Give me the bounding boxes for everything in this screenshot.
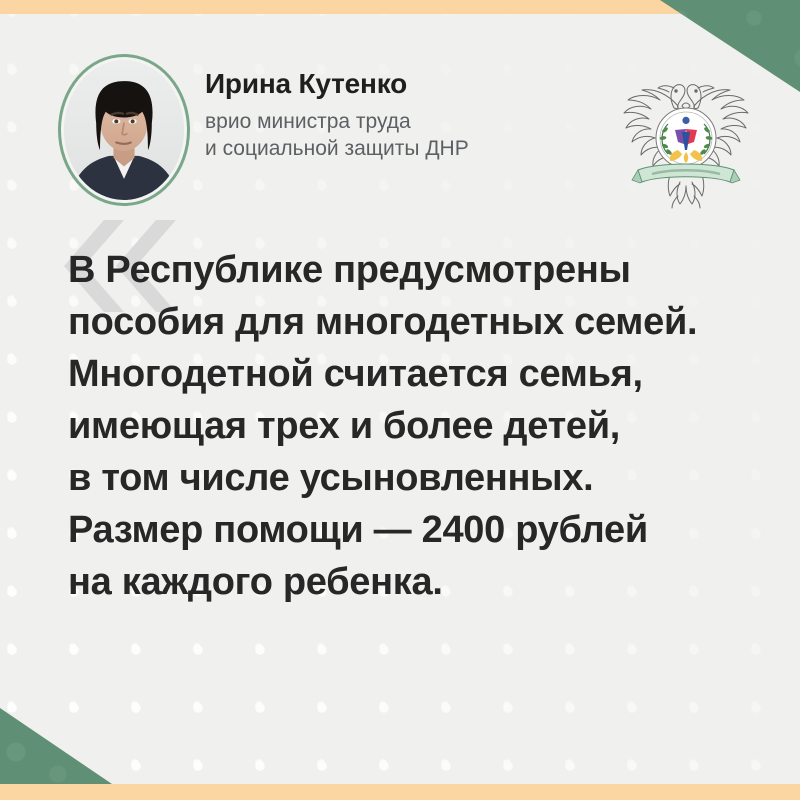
bottom-beige-bar bbox=[0, 784, 800, 800]
bottom-left-green-triangle bbox=[0, 708, 112, 784]
quote-line: Размер помощи — 2400 рублей bbox=[68, 504, 760, 556]
quote-line: В Республике предусмотрены bbox=[68, 244, 760, 296]
header: Ирина Кутенко врио министра труда и соци… bbox=[0, 14, 800, 204]
person-role: врио министра труда и социальной защиты … bbox=[205, 108, 469, 163]
person-role-line1: врио министра труда bbox=[205, 110, 411, 133]
quote-text: В Республике предусмотрены пособия для м… bbox=[0, 212, 800, 608]
quote-line: имеющая трех и более детей, bbox=[68, 400, 760, 452]
quote-card: Ирина Кутенко врио министра труда и соци… bbox=[0, 0, 800, 800]
person-role-line2: и социальной защиты ДНР bbox=[205, 137, 469, 160]
quote-line: пособия для многодетных семей. bbox=[68, 296, 760, 348]
avatar-ring bbox=[58, 54, 190, 206]
quote-line: на каждого ребенка. bbox=[68, 556, 760, 608]
quote-line: в том числе усыновленных. bbox=[68, 452, 760, 504]
dnr-coat-of-arms-icon bbox=[612, 62, 760, 212]
quote-line: Многодетной считается семья, bbox=[68, 348, 760, 400]
person-info: Ирина Кутенко врио министра труда и соци… bbox=[205, 68, 469, 163]
quote-block: В Республике предусмотрены пособия для м… bbox=[0, 212, 800, 608]
person-name: Ирина Кутенко bbox=[205, 68, 469, 100]
portrait-photo-icon bbox=[64, 60, 184, 200]
avatar bbox=[58, 54, 190, 206]
